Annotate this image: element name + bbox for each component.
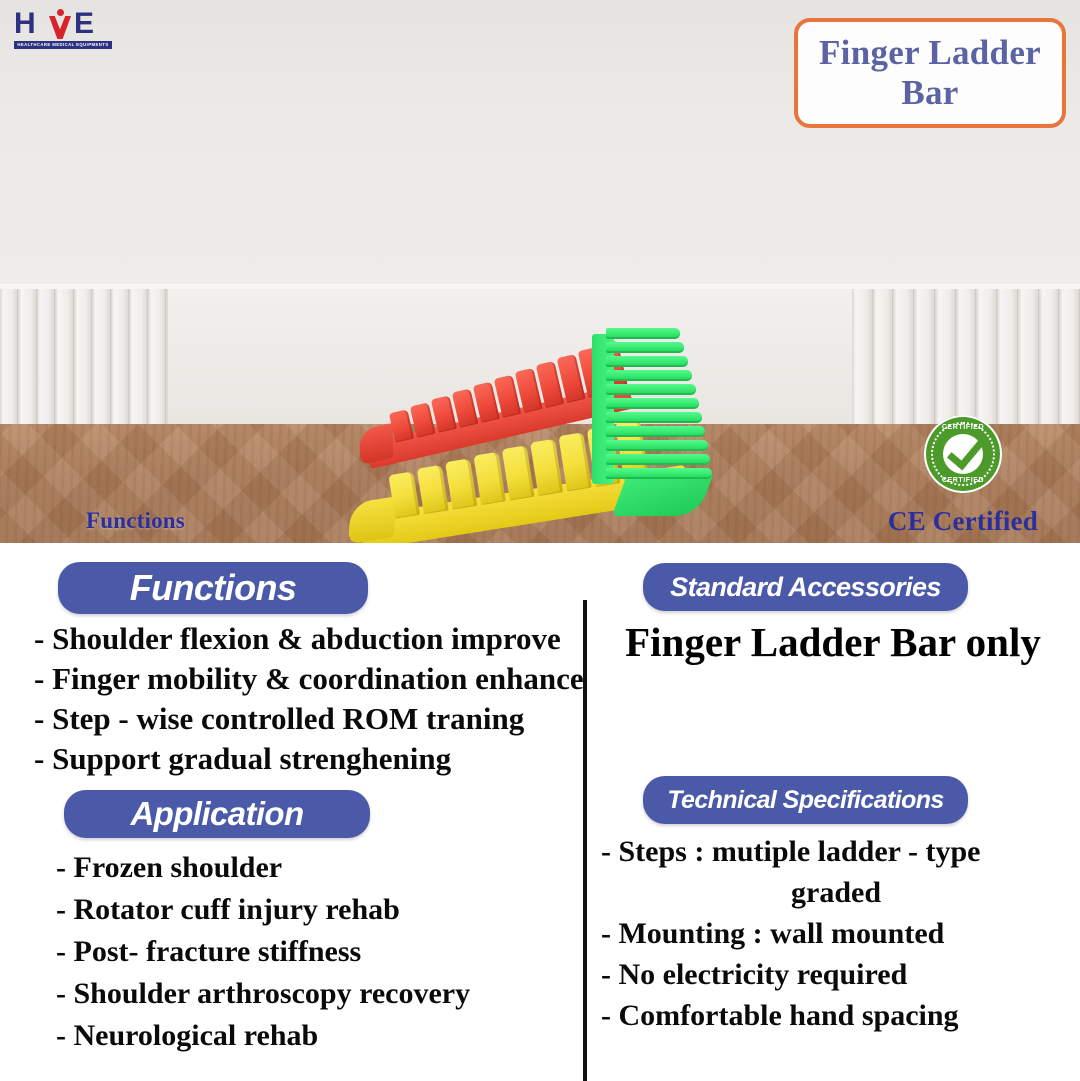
list-item: - Neurological rehab <box>56 1015 576 1057</box>
hero-caption-ce-certified: CE Certified <box>888 506 1038 537</box>
list-item: - Finger mobility & coordination enhance <box>34 659 583 699</box>
section-heading-application: Application <box>64 790 370 838</box>
logo-letter-e: E <box>74 10 93 38</box>
list-item: - Comfortable hand spacing <box>601 995 1071 1036</box>
application-list: - Frozen shoulder - Rotator cuff injury … <box>56 847 576 1057</box>
hero-caption-functions: Functions <box>86 508 185 534</box>
list-item: - Post- fracture stiffness <box>56 931 576 973</box>
logo-letter-h: H <box>14 10 35 38</box>
specifications-list: - Steps : mutiple ladder - type graded -… <box>601 831 1071 1036</box>
infographic-page: H E HEALTHCARE MEDICAL EQUIPMENTS Finger… <box>0 0 1080 1080</box>
spec-line-2: graded <box>601 872 1071 913</box>
left-column: Functions - Shoulder flexion & abduction… <box>0 543 583 1080</box>
list-item: - Support gradual strenghening <box>34 739 583 779</box>
person-figure-icon <box>48 9 72 39</box>
list-item: - Step - wise controlled ROM traning <box>34 699 583 739</box>
badge-bottom-text: CERTIFIED <box>924 477 1002 484</box>
badge-top-text: CERTIFIED <box>924 424 1002 431</box>
section-heading-standard-accessories: Standard Accessories <box>643 563 968 611</box>
list-item: - Steps : mutiple ladder - type graded <box>601 831 1071 913</box>
product-photo: H E HEALTHCARE MEDICAL EQUIPMENTS Finger… <box>0 0 1080 543</box>
list-item: - Shoulder arthroscopy recovery <box>56 973 576 1015</box>
functions-list: - Shoulder flexion & abduction improve -… <box>34 619 583 779</box>
list-item: - Shoulder flexion & abduction improve <box>34 619 583 659</box>
certified-badge: CERTIFIED CERTIFIED <box>924 415 1002 493</box>
logo-wordmark: H E <box>10 10 114 40</box>
wainscot-slats-right <box>852 289 1080 426</box>
spec-line-1: - Steps : mutiple ladder - type <box>601 835 980 868</box>
list-item: - Rotator cuff injury rehab <box>56 889 576 931</box>
content-area: Functions - Shoulder flexion & abduction… <box>0 543 1080 1080</box>
page-title: Finger Ladder Bar <box>798 33 1062 113</box>
product-title-card: Finger Ladder Bar <box>794 18 1066 128</box>
list-item: - Mounting : wall mounted <box>601 913 1071 954</box>
brand-logo[interactable]: H E HEALTHCARE MEDICAL EQUIPMENTS <box>10 10 114 54</box>
check-mark-icon <box>943 434 983 474</box>
section-heading-functions: Functions <box>58 562 368 614</box>
logo-tagline: HEALTHCARE MEDICAL EQUIPMENTS <box>14 41 112 49</box>
list-item: - Frozen shoulder <box>56 847 576 889</box>
wainscot-slats-left <box>0 289 166 426</box>
section-heading-technical-specifications: Technical Specifications <box>643 776 968 824</box>
standard-accessories-value: Finger Ladder Bar only <box>603 619 1063 666</box>
right-column: Standard Accessories Finger Ladder Bar o… <box>587 543 1080 1080</box>
list-item: - No electricity required <box>601 954 1071 995</box>
finger-ladder-bar-green <box>592 328 712 508</box>
